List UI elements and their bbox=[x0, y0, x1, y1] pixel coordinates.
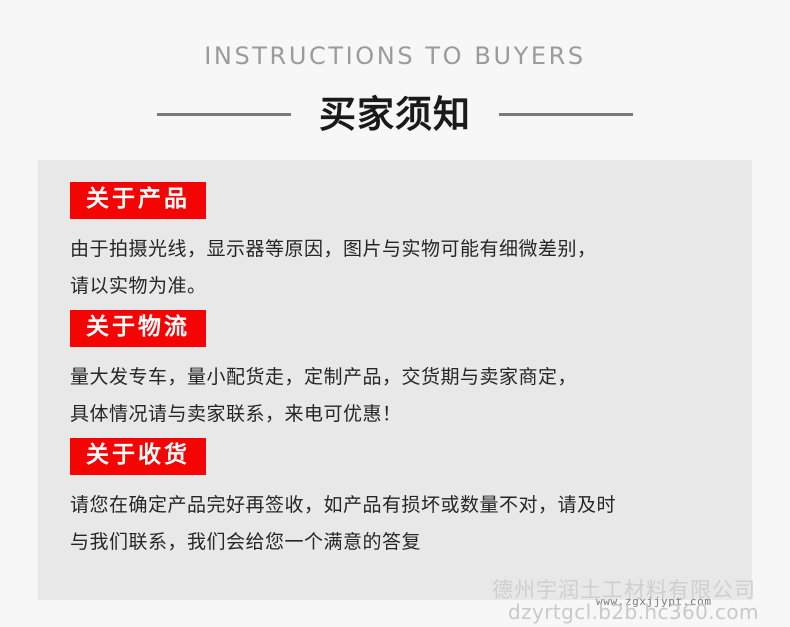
title-rule-right-decoration bbox=[499, 113, 633, 116]
section-badge-about-receiving: 关于收货 bbox=[70, 438, 206, 475]
section-about-receiving: 关于收货 请您在确定产品完好再签收，如产品有损坏或数量不对，请及时 与我们联系，… bbox=[70, 438, 730, 561]
section-badge-about-logistics: 关于物流 bbox=[70, 310, 206, 347]
page-header: INSTRUCTIONS TO BUYERS 买家须知 bbox=[0, 0, 790, 160]
section-body-about-logistics: 量大发专车，量小配货走，定制产品，交货期与卖家商定， 具体情况请与卖家联系，来电… bbox=[70, 359, 730, 433]
section-about-logistics: 关于物流 量大发专车，量小配货走，定制产品，交货期与卖家商定， 具体情况请与卖家… bbox=[70, 310, 730, 433]
header-eyebrow-english: INSTRUCTIONS TO BUYERS bbox=[0, 42, 790, 70]
section-about-product: 关于产品 由于拍摄光线，显示器等原因，图片与实物可能有细微差别， 请以实物为准。 bbox=[70, 182, 730, 305]
section-body-about-product: 由于拍摄光线，显示器等原因，图片与实物可能有细微差别， 请以实物为准。 bbox=[70, 231, 730, 305]
instructions-panel: 关于产品 由于拍摄光线，显示器等原因，图片与实物可能有细微差别， 请以实物为准。… bbox=[38, 160, 752, 600]
body-line: 量大发专车，量小配货走，定制产品，交货期与卖家商定， bbox=[70, 359, 730, 396]
body-line: 请以实物为准。 bbox=[70, 268, 730, 305]
watermark-url-secondary: dzyrtgcl.b2b.hc360.com bbox=[508, 600, 759, 624]
title-rule-left-decoration bbox=[157, 113, 291, 116]
body-line: 具体情况请与卖家联系，来电可优惠！ bbox=[70, 396, 730, 433]
body-line: 与我们联系，我们会给您一个满意的答复 bbox=[70, 524, 730, 561]
section-badge-about-product: 关于产品 bbox=[70, 182, 206, 219]
section-body-about-receiving: 请您在确定产品完好再签收，如产品有损坏或数量不对，请及时 与我们联系，我们会给您… bbox=[70, 487, 730, 561]
header-title-row: 买家须知 bbox=[0, 88, 790, 140]
page-title: 买家须知 bbox=[319, 96, 471, 133]
body-line: 请您在确定产品完好再签收，如产品有损坏或数量不对，请及时 bbox=[70, 487, 730, 524]
body-line: 由于拍摄光线，显示器等原因，图片与实物可能有细微差别， bbox=[70, 231, 730, 268]
